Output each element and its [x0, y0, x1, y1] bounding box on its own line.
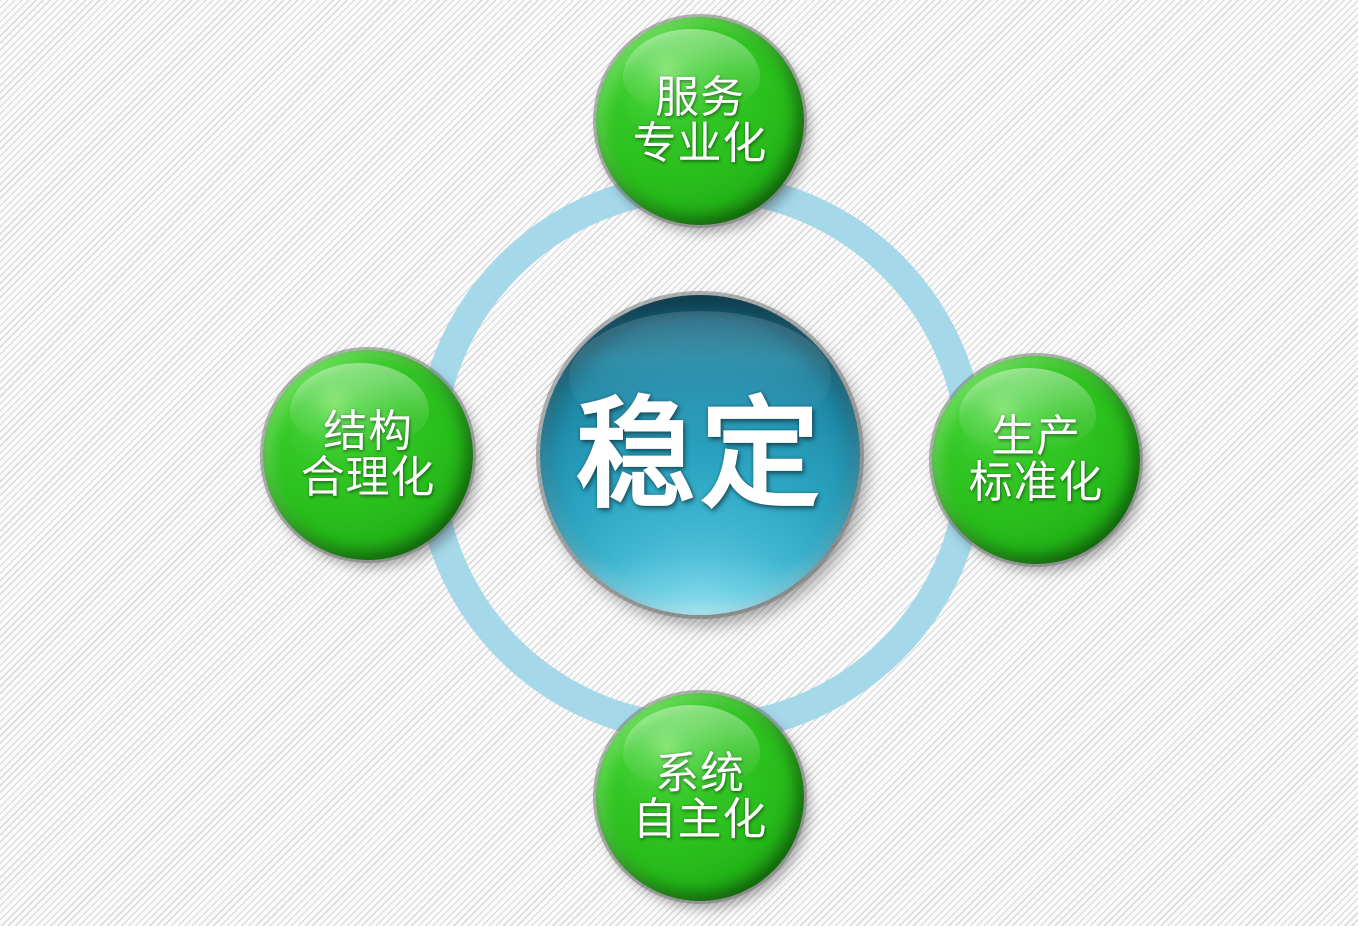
node-bottom-label: 系统自主化 [633, 751, 768, 843]
node-right-label: 生产标准化 [969, 414, 1104, 506]
diagram-canvas: 服务专业化 生产标准化 系统自主化 结构合理化 稳定 [0, 0, 1358, 926]
node-center-label: 稳定 [575, 393, 825, 518]
node-left[interactable]: 结构合理化 [263, 350, 473, 560]
node-center-hub[interactable]: 稳定 [540, 295, 860, 615]
node-top-label: 服务专业化 [633, 75, 768, 167]
node-bottom[interactable]: 系统自主化 [596, 693, 804, 901]
node-right[interactable]: 生产标准化 [932, 356, 1140, 564]
node-top[interactable]: 服务专业化 [596, 17, 804, 225]
node-left-label: 结构合理化 [301, 409, 436, 501]
